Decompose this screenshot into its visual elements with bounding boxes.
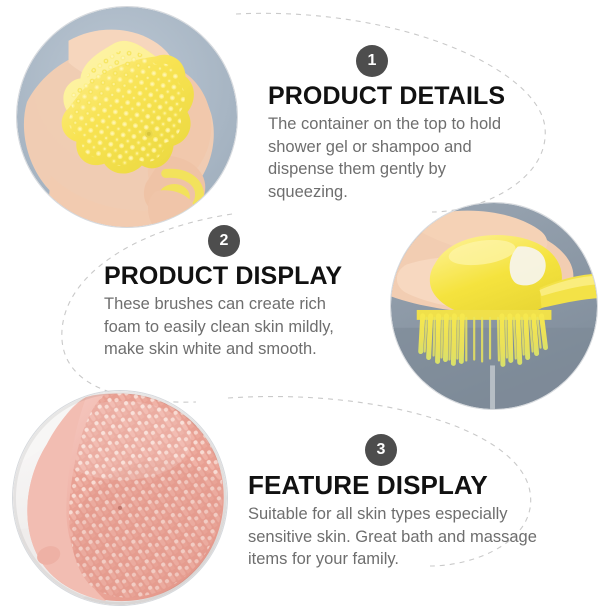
section-3-photo bbox=[12, 390, 228, 606]
section-1-heading: PRODUCT DETAILS bbox=[268, 82, 530, 111]
section-1-photo bbox=[16, 6, 238, 228]
section-3-body: Suitable for all skin types especially s… bbox=[248, 503, 538, 571]
section-2-text-block: PRODUCT DISPLAY These brushes can create… bbox=[104, 262, 364, 361]
section-1-body: The container on the top to hold shower … bbox=[268, 113, 530, 203]
step-badge-1-number: 1 bbox=[368, 53, 377, 69]
section-2-photo bbox=[390, 202, 598, 410]
step-badge-2: 2 bbox=[208, 225, 240, 257]
section-2-heading: PRODUCT DISPLAY bbox=[104, 262, 364, 291]
section-3-text-block: FEATURE DISPLAY Suitable for all skin ty… bbox=[248, 470, 538, 571]
step-badge-3: 3 bbox=[365, 434, 397, 466]
section-2-body: These brushes can create rich foam to ea… bbox=[104, 293, 364, 361]
section-1-text-block: PRODUCT DETAILS The container on the top… bbox=[268, 82, 530, 203]
step-badge-3-number: 3 bbox=[377, 442, 386, 458]
step-badge-1: 1 bbox=[356, 45, 388, 77]
section-3-heading: FEATURE DISPLAY bbox=[248, 470, 538, 501]
step-badge-2-number: 2 bbox=[220, 233, 229, 249]
infographic-canvas: 1 2 3 PRODUCT DETAILS The container on t… bbox=[0, 0, 600, 600]
